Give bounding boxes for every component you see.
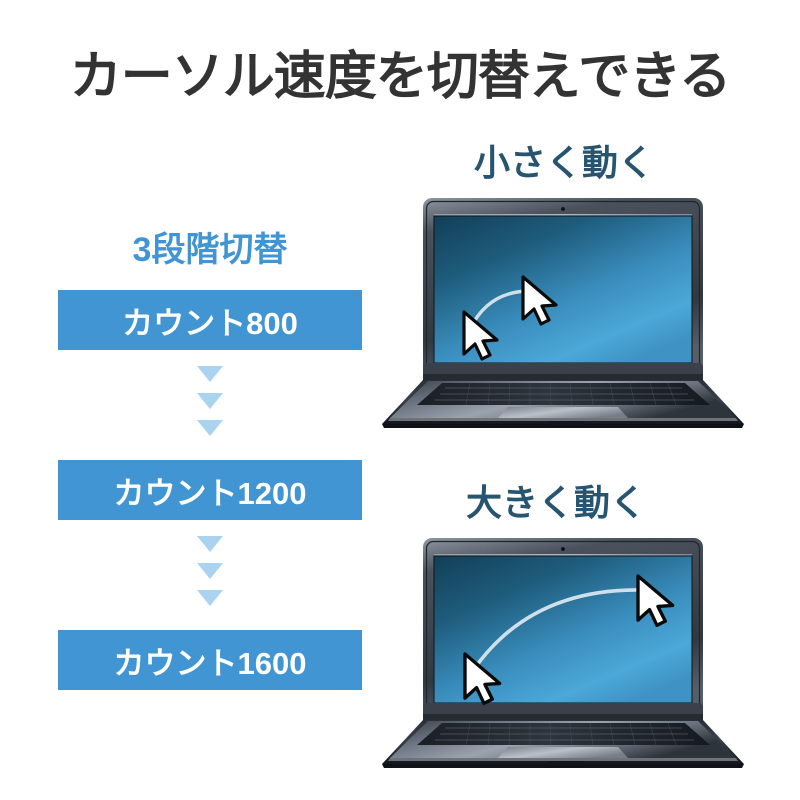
- count-step-1200: カウント1200: [58, 460, 362, 520]
- count-step-1600: カウント1600: [58, 630, 362, 690]
- chevron-down-triangle-icon: [197, 420, 223, 436]
- caption-small-movement: 小さく動く: [474, 134, 654, 186]
- caption-large-movement: 大きく動く: [466, 474, 646, 526]
- chevron-down-triangle-icon: [197, 590, 223, 606]
- chevron-down-triangle-icon: [197, 563, 223, 579]
- laptop-illustration-large-movement: [380, 532, 746, 770]
- chevron-down-triangle-icon: [197, 393, 223, 409]
- laptop-base: [382, 720, 744, 768]
- count-step-label: カウント1200: [114, 468, 307, 513]
- chevron-down-triangle-icon: [197, 366, 223, 382]
- chevron-down-triangle-icon: [197, 536, 223, 552]
- arrow-group-1: [58, 366, 362, 447]
- laptop-illustration-small-movement: [380, 192, 746, 430]
- count-step-label: カウント1600: [114, 638, 307, 683]
- steps-heading: 3段階切替: [58, 222, 362, 271]
- count-step-800: カウント800: [58, 290, 362, 350]
- page-title: カーソル速度を切替えできる: [0, 34, 800, 109]
- count-step-label: カウント800: [122, 298, 298, 343]
- arrow-group-2: [58, 536, 362, 617]
- laptop-base: [382, 380, 744, 428]
